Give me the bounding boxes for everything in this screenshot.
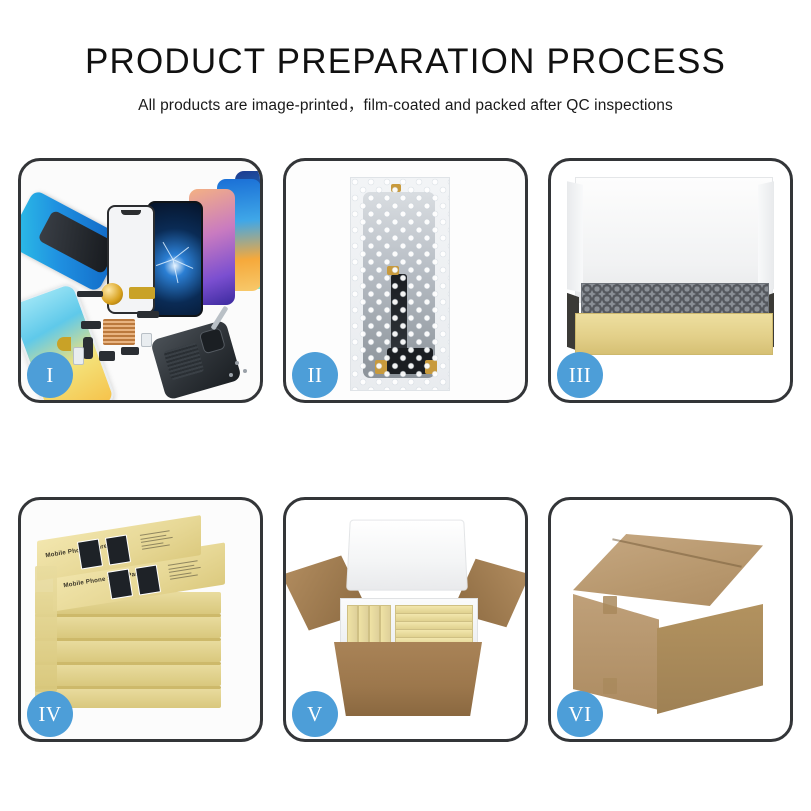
process-step-5[interactable]: V bbox=[283, 497, 528, 742]
copper-pad-grid bbox=[103, 319, 135, 345]
inner-box-v-2 bbox=[358, 605, 369, 647]
carton-tape-upper bbox=[603, 596, 617, 614]
process-step-6[interactable]: VI bbox=[548, 497, 793, 742]
part-camera-flex bbox=[83, 337, 93, 359]
part-antenna-flex bbox=[137, 311, 159, 318]
phone-cracked-screen bbox=[147, 201, 203, 317]
part-speaker bbox=[99, 351, 115, 361]
box-lid-right-flap bbox=[758, 181, 774, 292]
stack-edge-3 bbox=[35, 638, 221, 641]
stack-edge-4 bbox=[35, 662, 221, 665]
box-lcd-thumb-2 bbox=[105, 534, 131, 565]
foam-lid bbox=[346, 520, 468, 591]
process-step-grid: I II bbox=[18, 158, 793, 745]
step-badge-4: IV bbox=[27, 691, 73, 737]
screw-2 bbox=[243, 369, 247, 373]
inner-box-v-3 bbox=[369, 605, 380, 647]
page-title: PRODUCT PREPARATION PROCESS bbox=[0, 44, 811, 79]
box-front-kraft bbox=[575, 313, 773, 355]
stack-layer-4 bbox=[35, 664, 221, 686]
screw-3 bbox=[229, 373, 233, 377]
step-badge-2: II bbox=[292, 352, 338, 398]
carton-tape-lower bbox=[603, 678, 617, 694]
inner-box-v-1 bbox=[347, 605, 358, 647]
stack-edge-5 bbox=[35, 686, 221, 689]
part-sim-tray bbox=[73, 347, 84, 365]
step-badge-3: III bbox=[557, 352, 603, 398]
screw-1 bbox=[235, 361, 239, 365]
part-connector bbox=[77, 291, 103, 297]
gold-tab-top bbox=[391, 184, 401, 192]
part-bracket bbox=[141, 333, 152, 347]
part-gold-disc bbox=[57, 337, 71, 351]
step-badge-5: V bbox=[292, 691, 338, 737]
part-flex-cable-gold bbox=[129, 287, 155, 299]
part-small-module bbox=[81, 321, 101, 329]
carton-top-face bbox=[573, 534, 763, 606]
page-subtitle: All products are image-printed，film-coat… bbox=[0, 93, 811, 115]
box-lid-left-flap bbox=[567, 181, 583, 292]
gold-component bbox=[101, 283, 123, 305]
part-button-flex bbox=[121, 347, 139, 355]
lcd-connector bbox=[387, 348, 433, 374]
gold-tab-mid bbox=[387, 266, 399, 275]
carton-body bbox=[334, 642, 482, 716]
stack-layer-3 bbox=[35, 640, 221, 662]
step-badge-6: VI bbox=[557, 691, 603, 737]
process-step-1[interactable]: I bbox=[18, 158, 263, 403]
gold-tab-right bbox=[425, 360, 437, 374]
step-badge-1: I bbox=[27, 352, 73, 398]
phone-back-housing bbox=[150, 319, 242, 400]
process-step-3[interactable]: III bbox=[548, 158, 793, 403]
lcd-flex-cable bbox=[391, 274, 407, 370]
lcd-screen bbox=[363, 192, 435, 378]
bubble-wrap-pouch bbox=[350, 177, 450, 391]
carton-right-face bbox=[657, 604, 763, 714]
box-lcd-thumb-4 bbox=[135, 564, 161, 595]
box-lcd-thumb-3 bbox=[107, 568, 133, 599]
stack-left-face bbox=[35, 566, 57, 692]
gold-tab-left bbox=[375, 360, 387, 374]
process-step-4[interactable]: Mobile Phone Spare Parts Mobile Phone Sp… bbox=[18, 497, 263, 742]
stack-edge-2 bbox=[35, 614, 221, 617]
process-step-2[interactable]: II bbox=[283, 158, 528, 403]
inner-box-v-4 bbox=[380, 605, 391, 647]
box-lcd-thumb-1 bbox=[77, 538, 103, 569]
product-preparation-infographic: PRODUCT PREPARATION PROCESS All products… bbox=[0, 0, 811, 811]
stack-layer-2 bbox=[35, 616, 221, 638]
header: PRODUCT PREPARATION PROCESS All products… bbox=[0, 0, 811, 115]
